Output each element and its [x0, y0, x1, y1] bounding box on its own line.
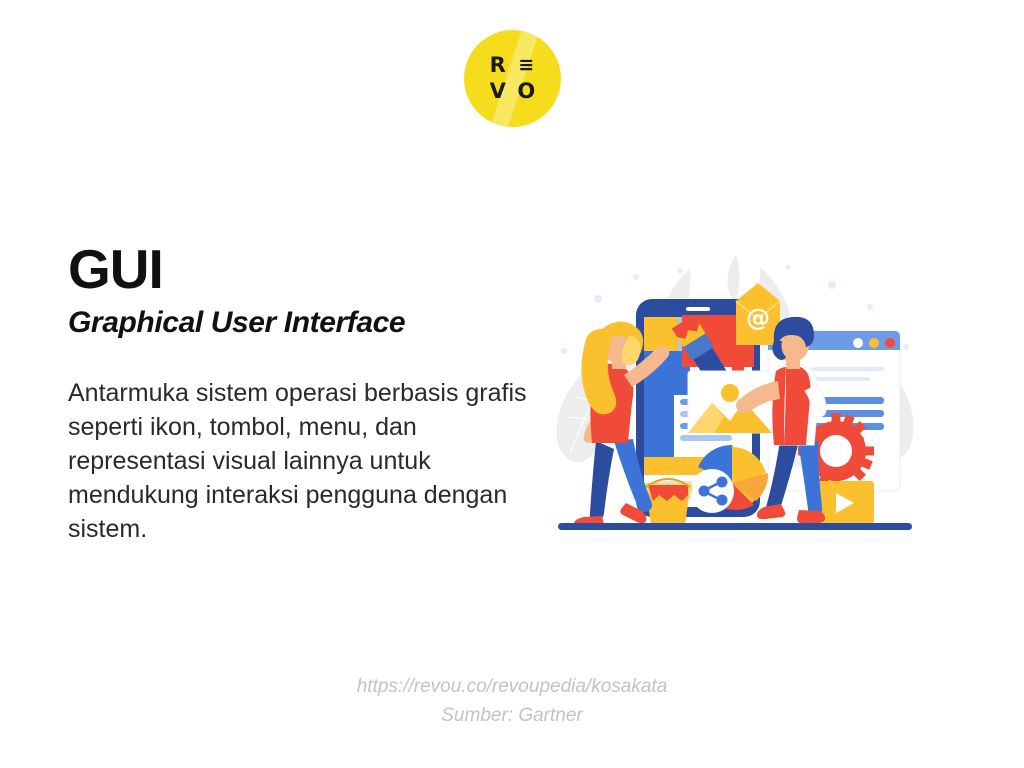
term-expansion: Graphical User Interface [68, 304, 548, 342]
logo-letter-o: O [517, 81, 535, 102]
logo-letter-r: R [490, 55, 506, 76]
revou-logo[interactable]: R ≡ V O [464, 30, 561, 127]
footer: https://revou.co/revoupedia/kosakata Sum… [0, 672, 1024, 730]
ground-line [558, 523, 912, 530]
gui-design-illustration: @ [540, 255, 930, 545]
browser-dot-yellow [869, 338, 879, 348]
definition-block: GUI Graphical User Interface Antarmuka s… [68, 240, 548, 546]
term-definition: Antarmuka sistem operasi berbasis grafis… [68, 376, 538, 546]
logo-letter-grid: R ≡ V O [464, 30, 561, 127]
slide-canvas: R ≡ V O GUI Graphical User Interface Ant… [0, 0, 1024, 768]
footer-source: Sumber: Gartner [0, 701, 1024, 730]
at-symbol: @ [746, 304, 770, 332]
logo-container: R ≡ V O [0, 30, 1024, 127]
share-icon [690, 469, 734, 513]
term-title: GUI [68, 240, 548, 298]
browser-dot-red [885, 338, 895, 348]
logo-letter-v: V [490, 81, 506, 102]
logo-letter-e: ≡ [518, 56, 534, 75]
browser-dot-white [853, 338, 863, 348]
footer-url[interactable]: https://revou.co/revoupedia/kosakata [0, 672, 1024, 701]
